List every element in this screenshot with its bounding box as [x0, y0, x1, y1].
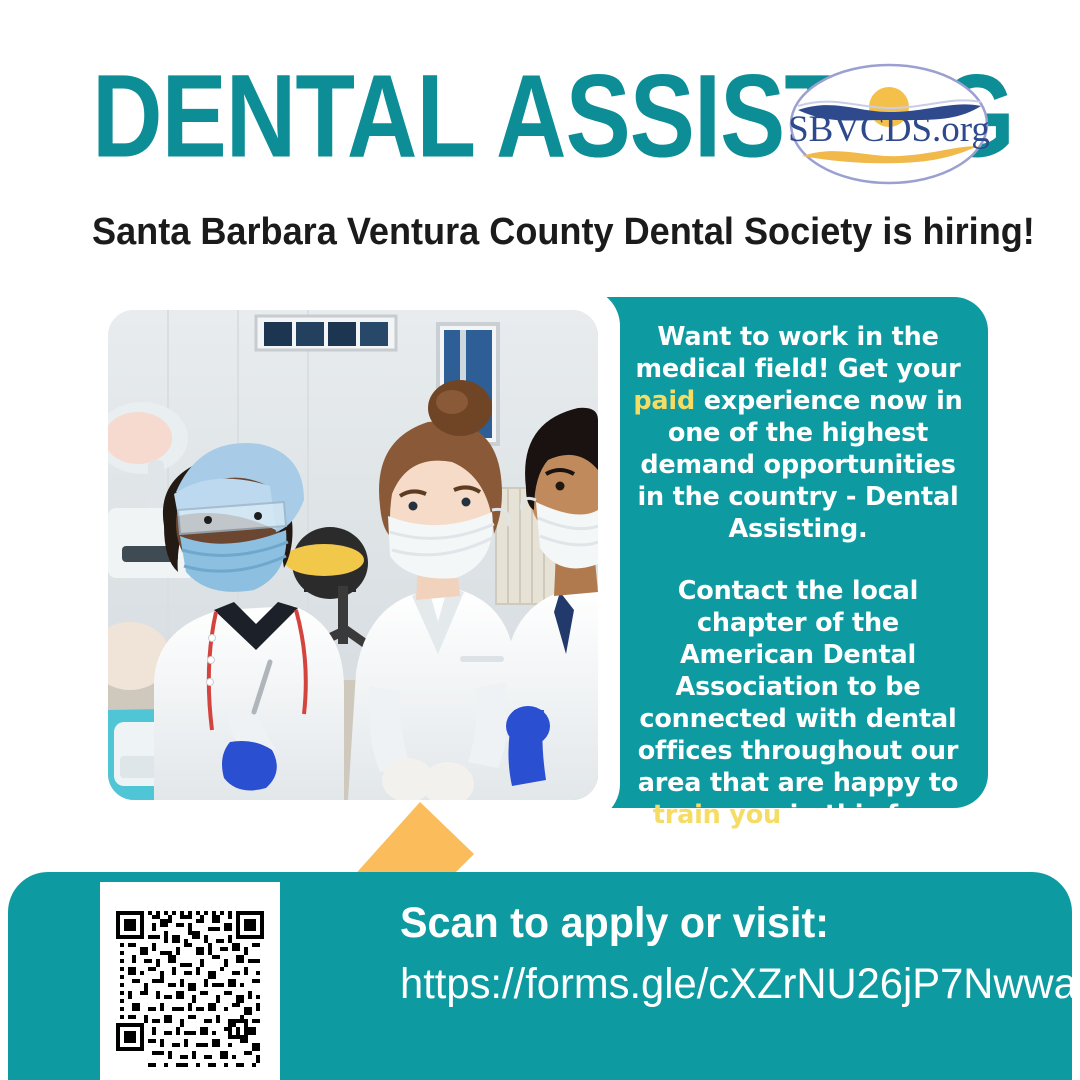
logo-wordmark: SBVCDS.org: [788, 109, 990, 150]
scan-label: Scan to apply or visit:: [400, 898, 1014, 948]
subtitle: Santa Barbara Ventura County Dental Soci…: [92, 210, 947, 254]
poster-canvas: DENTAL ASSISTING SBVCDS.org Santa Barbar…: [0, 0, 1080, 1080]
info-paragraph-2: Contact the local chapter of the America…: [626, 575, 970, 863]
p1-highlight-paid: paid: [633, 386, 695, 416]
dental-clinic-photo: [108, 310, 598, 800]
apply-url[interactable]: https://forms.gle/cXZrNU26jP7Nwway8: [400, 958, 1021, 1010]
p2-part-0: Contact the local chapter of the America…: [638, 576, 959, 798]
info-panel-copy: Want to work in the medical field! Get y…: [626, 321, 970, 863]
info-paragraph-1: Want to work in the medical field! Get y…: [626, 321, 970, 545]
header: DENTAL ASSISTING SBVCDS.org: [0, 0, 1080, 200]
sbvcds-logo: SBVCDS.org: [788, 62, 990, 186]
cta-text-block: Scan to apply or visit: https://forms.gl…: [400, 898, 1040, 1010]
p2-highlight-train-you: train you: [653, 800, 781, 830]
qr-code[interactable]: [100, 882, 280, 1080]
p1-part-0: Want to work in the medical field! Get y…: [636, 322, 961, 384]
